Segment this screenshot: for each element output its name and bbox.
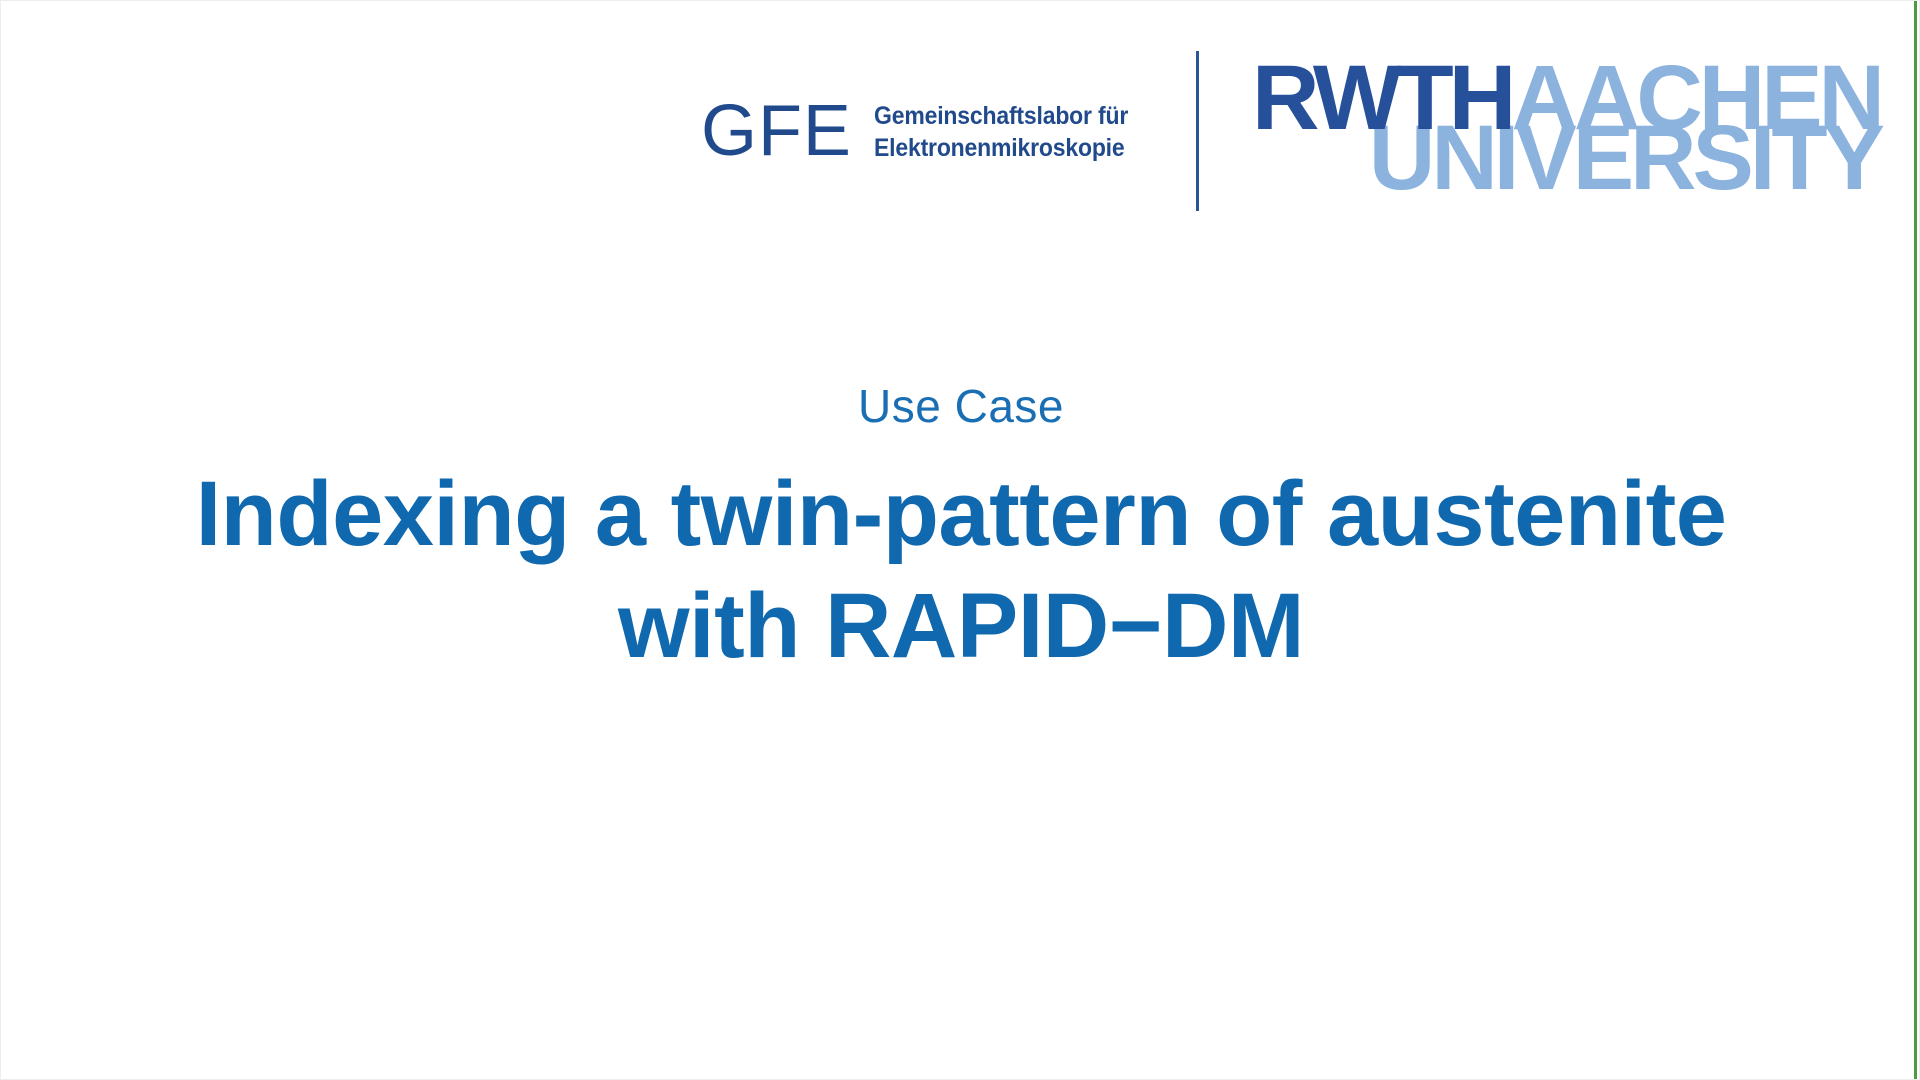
gfe-logo: GFE Gemeinschaftslabor für Elektronenmik…	[701, 97, 1150, 165]
presentation-slide: GFE Gemeinschaftslabor für Elektronenmik…	[0, 0, 1920, 1080]
gfe-logo-mark: GFE	[701, 97, 852, 165]
slide-eyebrow: Use Case	[1, 381, 1920, 432]
gfe-logo-wordmark: Gemeinschaftslabor für Elektronenmikrosk…	[874, 98, 1150, 163]
page-title: Indexing a twin-pattern of austenite wit…	[191, 458, 1731, 682]
logo-divider	[1196, 51, 1199, 211]
rwth-logo-rwth-text: RWTH	[1252, 62, 1511, 136]
logo-band: GFE Gemeinschaftslabor für Elektronenmik…	[1, 1, 1920, 231]
gfe-wordmark-line-2: Elektronenmikroskopie	[874, 134, 1128, 164]
title-block: Use Case Indexing a twin-pattern of aust…	[1, 381, 1920, 682]
gfe-wordmark-line-1: Gemeinschaftslabor für	[874, 102, 1128, 132]
rwth-aachen-university-logo: RWTH AACHEN UNIVERSITY	[1257, 62, 1881, 195]
